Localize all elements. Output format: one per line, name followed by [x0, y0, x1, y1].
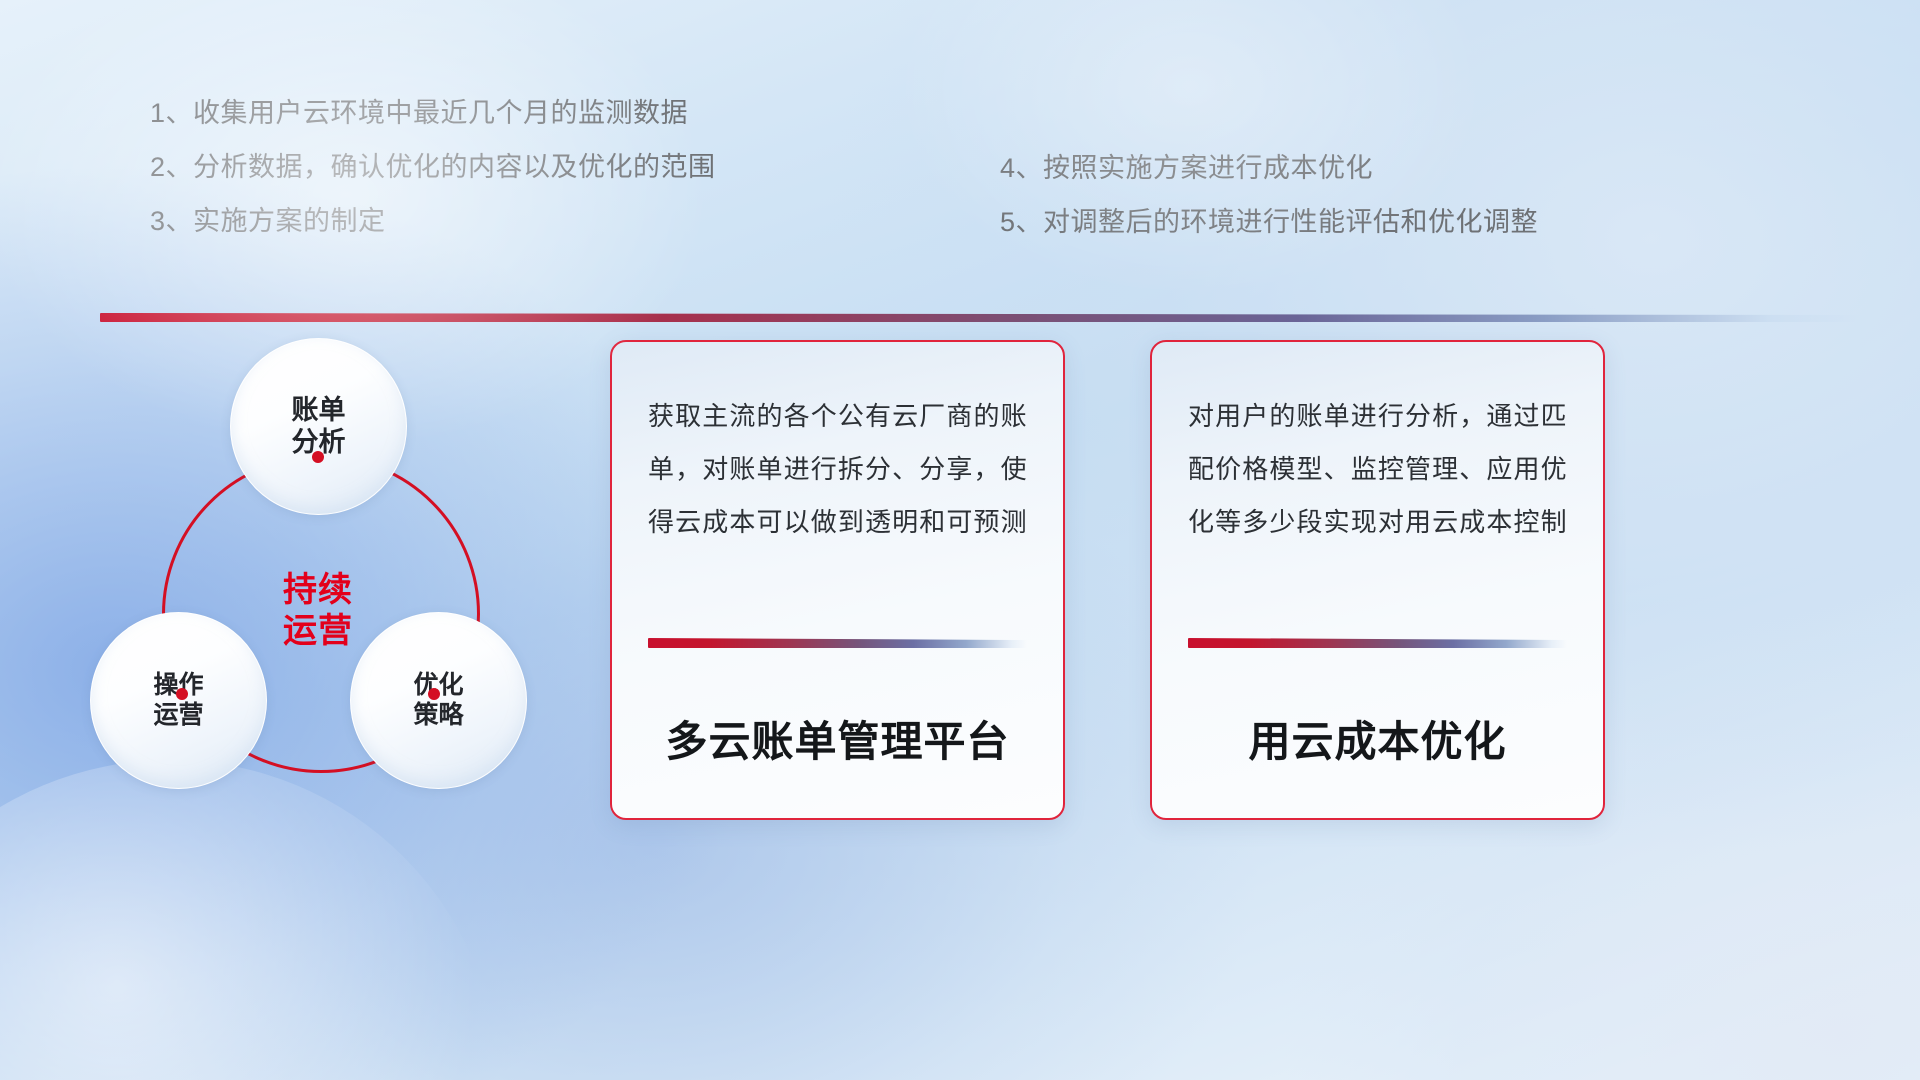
- venn-node-top-text: 账单分析: [292, 395, 346, 459]
- slide-canvas: 1、收集用户云环境中最近几个月的监测数据 2、分析数据，确认优化的内容以及优化的…: [0, 0, 1920, 1080]
- venn-connector-dot-right: [428, 688, 440, 700]
- step-item-4: 4、按照实施方案进行成本优化: [1000, 155, 1538, 182]
- step-item-3: 3、实施方案的制定: [150, 208, 716, 235]
- step-item-2: 2、分析数据，确认优化的内容以及优化的范围: [150, 154, 716, 181]
- venn-connector-dot-top: [312, 451, 324, 463]
- card-1-body: 获取主流的各个公有云厂商的账单，对账单进行拆分、分享，使得云成本可以做到透明和可…: [648, 390, 1027, 612]
- venn-connector-dot-left: [176, 688, 188, 700]
- card-1-divider: [648, 638, 1027, 648]
- venn-diagram: 账单分析 操作运营 优化策略 持续运营: [90, 350, 650, 950]
- venn-center-label: 持续运营: [162, 455, 474, 767]
- card-1-title: 多云账单管理平台: [648, 708, 1027, 769]
- card-2-body: 对用户的账单进行分析，通过匹配价格模型、监控管理、应用优化等多少段实现对用云成本…: [1188, 390, 1567, 612]
- step-item-5: 5、对调整后的环境进行性能评估和优化调整: [1000, 209, 1538, 236]
- card-2-title: 用云成本优化: [1188, 708, 1567, 769]
- steps-list-left: 1、收集用户云环境中最近几个月的监测数据 2、分析数据，确认优化的内容以及优化的…: [150, 100, 716, 262]
- steps-list-right: 4、按照实施方案进行成本优化 5、对调整后的环境进行性能评估和优化调整: [1000, 155, 1538, 263]
- card-2-divider: [1188, 638, 1567, 648]
- feature-card-cost-optimization[interactable]: 对用户的账单进行分析，通过匹配价格模型、监控管理、应用优化等多少段实现对用云成本…: [1150, 340, 1605, 820]
- step-item-1: 1、收集用户云环境中最近几个月的监测数据: [150, 100, 716, 127]
- section-divider-rule: [100, 313, 1860, 322]
- feature-card-multicloud-billing[interactable]: 获取主流的各个公有云厂商的账单，对账单进行拆分、分享，使得云成本可以做到透明和可…: [610, 340, 1065, 820]
